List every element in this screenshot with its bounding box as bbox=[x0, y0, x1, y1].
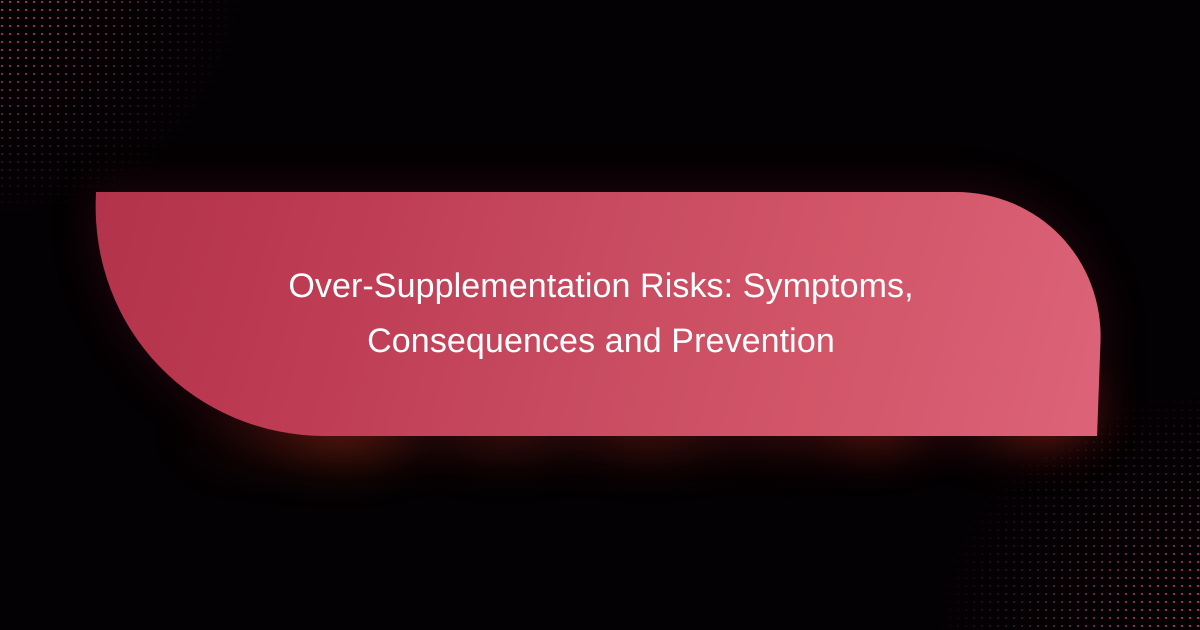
banner-shape bbox=[87, 192, 1106, 436]
social-card: Over-Supplementation Risks: Symptoms, Co… bbox=[0, 0, 1200, 630]
banner-shape-wrapper bbox=[87, 192, 1106, 436]
